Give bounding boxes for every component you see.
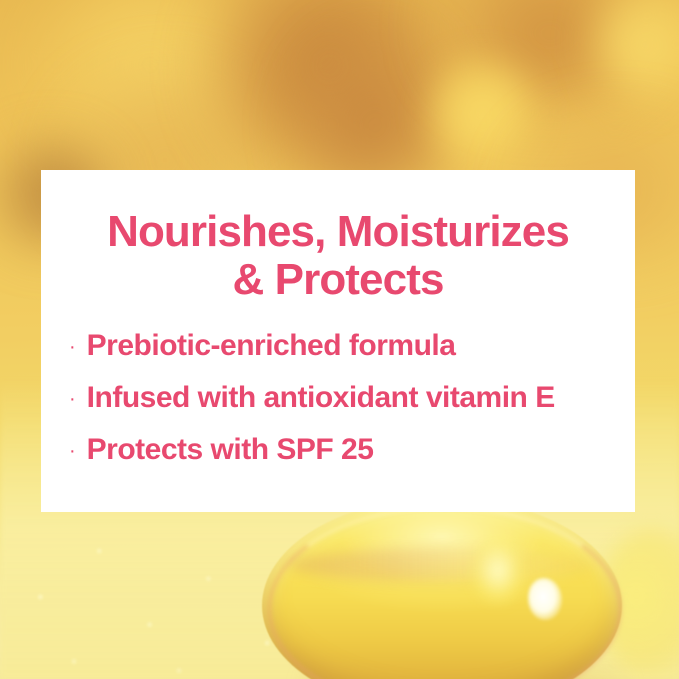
feature-card: Nourishes, Moisturizes & Protects · Preb…	[41, 170, 635, 512]
list-item: · Infused with antioxidant vitamin E	[69, 381, 635, 414]
capsule-specular-highlight	[528, 578, 562, 620]
page-title: Nourishes, Moisturizes & Protects	[41, 170, 635, 303]
capsule-soft-highlight	[470, 536, 526, 606]
list-item-label: Infused with antioxidant vitamin E	[87, 381, 555, 414]
bullet-dot-icon: ·	[69, 441, 76, 461]
promo-image: Nourishes, Moisturizes & Protects · Preb…	[0, 0, 679, 679]
list-item: · Prebiotic-enriched formula	[69, 329, 635, 362]
list-item: · Protects with SPF 25	[69, 433, 635, 466]
bullet-dot-icon: ·	[69, 389, 76, 409]
feature-list: · Prebiotic-enriched formula · Infused w…	[41, 303, 635, 466]
list-item-label: Prebiotic-enriched formula	[87, 329, 456, 362]
bullet-dot-icon: ·	[69, 337, 76, 357]
list-item-label: Protects with SPF 25	[87, 433, 374, 466]
